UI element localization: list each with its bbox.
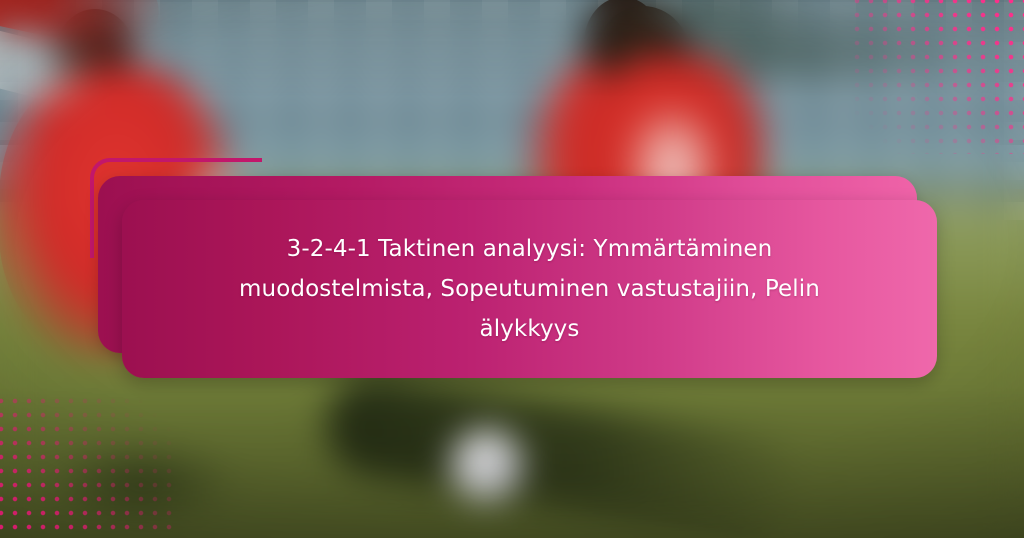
page-title: 3-2-4-1 Taktinen analyysi: Ymmärtäminen … <box>180 229 880 349</box>
hero-banner: 3-2-4-1 Taktinen analyysi: Ymmärtäminen … <box>0 0 1024 538</box>
title-card: 3-2-4-1 Taktinen analyysi: Ymmärtäminen … <box>122 200 937 378</box>
